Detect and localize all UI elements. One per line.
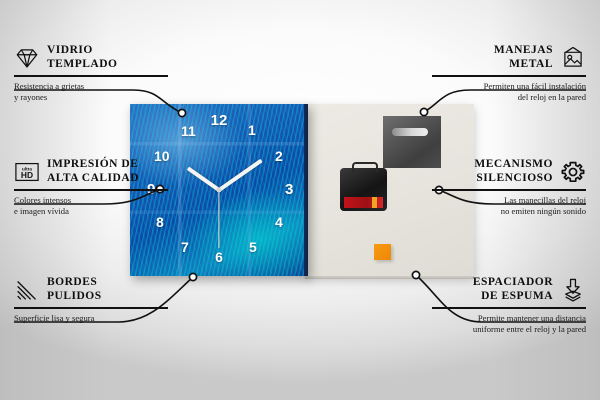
gear-icon [560, 159, 586, 185]
feature-header: ESPACIADOR DE ESPUMA [432, 276, 586, 303]
clock-numeral-3: 3 [285, 182, 293, 197]
mechanism-hook [352, 162, 378, 172]
feature-divider [14, 75, 168, 77]
feature-desc-line2: del reloj en la pared [432, 92, 586, 103]
foam-spacer-icon [560, 277, 586, 303]
feature-title: VIDRIO TEMPLADO [47, 44, 117, 71]
feature-desc-line1: Permiten una fácil instalación [432, 81, 586, 92]
polished-edge-icon [14, 277, 40, 303]
feature-divider [432, 189, 586, 191]
clock-numeral-5: 5 [249, 240, 257, 254]
svg-text:HD: HD [21, 170, 33, 180]
picture-frame-icon [560, 45, 586, 71]
feature-mecanismo-silencioso: MECANISMO SILENCIOSO Las manecillas del … [432, 158, 586, 217]
clock-mechanism [340, 168, 387, 211]
feature-espaciador-espuma: ESPACIADOR DE ESPUMA Permite mantener un… [432, 276, 586, 335]
feature-desc-line1: Las manecillas del reloj [432, 195, 586, 206]
feature-title: BORDES PULIDOS [47, 276, 102, 303]
feature-header: ultra HD IMPRESIÓN DE ALTA CALIDAD [14, 158, 168, 185]
clock-numeral-1: 1 [248, 123, 256, 137]
diamond-icon [14, 45, 40, 71]
clock-numeral-7: 7 [181, 240, 189, 254]
infographic-canvas: 12 1 2 3 4 5 6 7 8 9 10 11 [0, 0, 600, 400]
feature-title: MANEJAS METAL [494, 44, 553, 71]
feature-divider [14, 307, 168, 309]
feature-divider [432, 307, 586, 309]
hanger-keyhole-slot [392, 128, 428, 136]
feature-bordes-pulidos: BORDES PULIDOS Superficie lisa y segura [14, 276, 168, 324]
feature-title: ESPACIADOR DE ESPUMA [473, 276, 553, 303]
feature-desc-line2: e imagen vívida [14, 206, 168, 217]
clock-numeral-2: 2 [275, 149, 283, 163]
ultra-hd-icon: ultra HD [14, 159, 40, 185]
clock-numeral-6: 6 [215, 250, 223, 264]
feature-header: MECANISMO SILENCIOSO [432, 158, 586, 185]
battery-label-accent [372, 197, 377, 208]
feature-divider [432, 75, 586, 77]
feature-desc-line2: y rayones [14, 92, 168, 103]
feature-title: MECANISMO SILENCIOSO [474, 158, 553, 185]
feature-vidrio-templado: VIDRIO TEMPLADO Resistencia a grietas y … [14, 44, 168, 103]
clock-right-edge [304, 104, 308, 276]
foam-spacer [374, 244, 391, 260]
feature-header: BORDES PULIDOS [14, 276, 168, 303]
product-image: 12 1 2 3 4 5 6 7 8 9 10 11 [130, 104, 474, 276]
clock-numeral-12: 12 [211, 113, 228, 128]
clock-numeral-4: 4 [275, 215, 283, 229]
feature-manejas-metal: MANEJAS METAL Permiten una fácil instala… [432, 44, 586, 103]
feature-title: IMPRESIÓN DE ALTA CALIDAD [47, 158, 139, 185]
feature-header: MANEJAS METAL [432, 44, 586, 71]
clock-numeral-11: 11 [181, 124, 196, 138]
feature-desc-line1: Resistencia a grietas [14, 81, 168, 92]
feature-impresion-alta-calidad: ultra HD IMPRESIÓN DE ALTA CALIDAD Color… [14, 158, 168, 217]
battery-label [344, 197, 383, 208]
feature-header: VIDRIO TEMPLADO [14, 44, 168, 71]
feature-desc-line2: uniforme entre el reloj y la pared [432, 324, 586, 335]
feature-desc-line1: Superficie lisa y segura [14, 313, 168, 324]
clock-center-pin [217, 188, 222, 193]
feature-divider [14, 189, 168, 191]
feature-desc-line1: Colores intensos [14, 195, 168, 206]
feature-desc-line2: no emiten ningún sonido [432, 206, 586, 217]
feature-desc-line1: Permite mantener una distancia [432, 313, 586, 324]
